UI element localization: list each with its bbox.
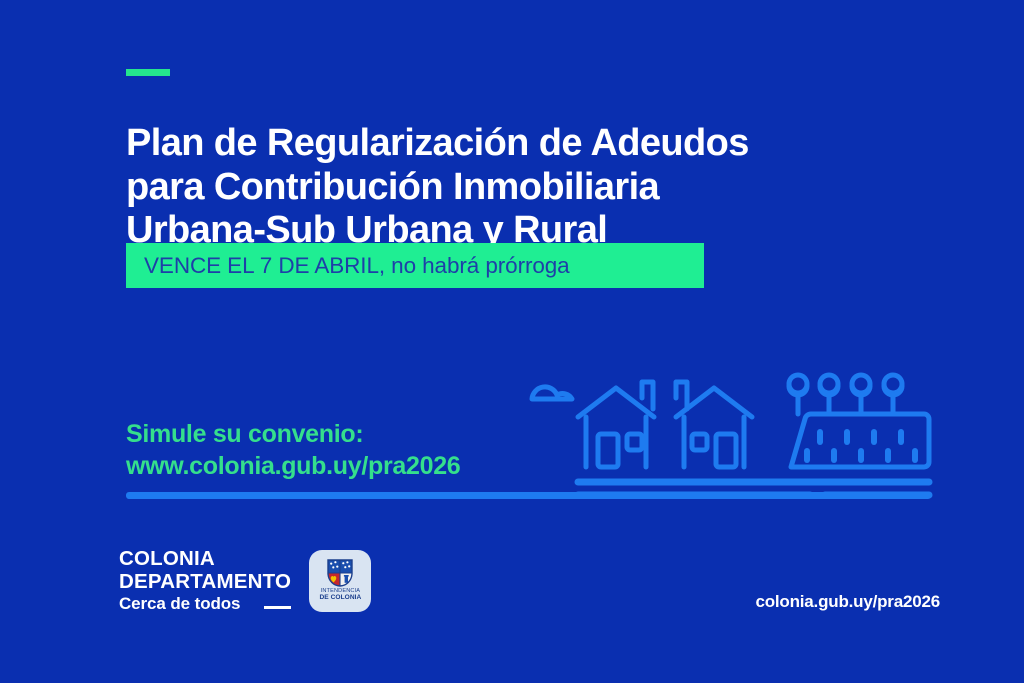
- crest-badge: INTENDENCIA DE COLONIA: [309, 550, 371, 612]
- brand-line-2: DEPARTAMENTO: [119, 572, 291, 593]
- simulate-block: Simule su convenio: www.colonia.gub.uy/p…: [126, 418, 460, 482]
- house-icon-left: [578, 382, 654, 467]
- tree-icon-4: [884, 375, 902, 414]
- crest-caption: INTENDENCIA DE COLONIA: [319, 589, 361, 601]
- crop-field: [791, 414, 929, 467]
- brand-tagline: Cerca de todos: [119, 595, 240, 612]
- cloud-icon: [532, 387, 572, 399]
- footer-url[interactable]: colonia.gub.uy/pra2026: [755, 592, 940, 612]
- brand-line-1: COLONIA: [119, 549, 291, 570]
- brand-wordmark: COLONIA DEPARTAMENTO Cerca de todos: [119, 549, 291, 612]
- deadline-text: VENCE EL 7 DE ABRIL, no habrá prórroga: [144, 253, 570, 279]
- brand-logo: COLONIA DEPARTAMENTO Cerca de todos: [119, 549, 371, 612]
- tree-icon-3: [852, 375, 870, 414]
- simulate-label: Simule su convenio:: [126, 418, 460, 450]
- simulate-url[interactable]: www.colonia.gub.uy/pra2026: [126, 450, 460, 482]
- landscape-illustration: [520, 362, 940, 502]
- headline-line-2: para Contribución Inmobiliaria: [126, 166, 916, 210]
- poster-canvas: Plan de Regularización de Adeudos para C…: [0, 0, 1024, 683]
- tree-icon-1: [789, 375, 807, 414]
- deadline-banner: VENCE EL 7 DE ABRIL, no habrá prórroga: [126, 243, 704, 288]
- coat-of-arms-icon: [327, 559, 353, 587]
- accent-dash: [126, 69, 170, 76]
- tree-icon-2: [820, 375, 838, 414]
- crest-caption-bottom: DE COLONIA: [319, 595, 361, 602]
- brand-dash: [264, 606, 291, 609]
- headline-line-1: Plan de Regularización de Adeudos: [126, 122, 916, 166]
- house-icon-right: [676, 382, 752, 467]
- page-title: Plan de Regularización de Adeudos para C…: [126, 122, 916, 253]
- divider-line: [126, 492, 931, 499]
